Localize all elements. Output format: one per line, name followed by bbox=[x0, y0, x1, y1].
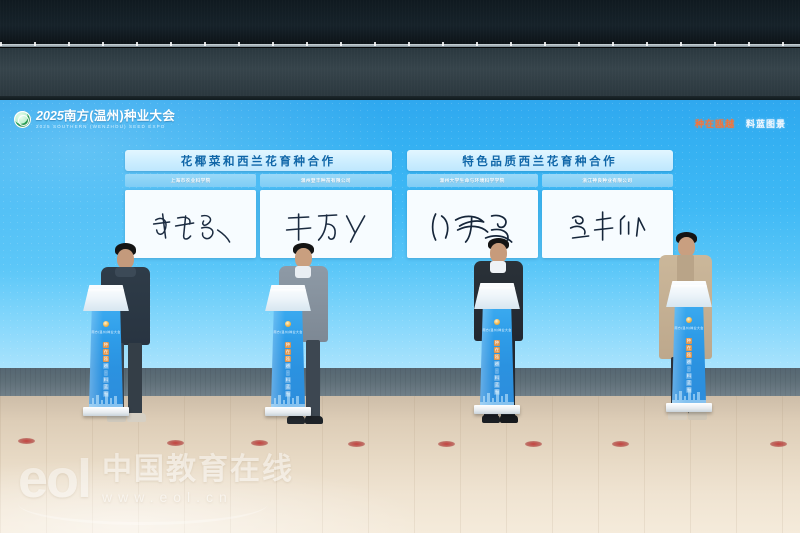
floor-marker bbox=[251, 440, 268, 446]
podium-skyline-graphic bbox=[672, 385, 706, 403]
podium-skyline-graphic bbox=[271, 389, 305, 407]
podium-char: 种 bbox=[686, 338, 692, 344]
party-label: 上海市农业科学院 bbox=[125, 174, 256, 187]
podium-header-text: 南方(温州)种业大会 bbox=[274, 330, 303, 334]
panel-right-parties: 温州大学生命与环境科学学院 浙江神良种业有限公司 bbox=[407, 174, 674, 187]
podium-panel: 南方(温州)种业大会 种 在 瓯 越 · 料 蓝 图 bbox=[271, 311, 305, 407]
event-logo-name: 南方(温州)种业大会 bbox=[64, 109, 175, 123]
podium-char: 在 bbox=[494, 347, 500, 353]
podium-desktop bbox=[262, 285, 314, 311]
shirt-collar bbox=[295, 266, 311, 278]
podium-char: · bbox=[286, 370, 289, 376]
podium-emblem-icon bbox=[285, 321, 291, 327]
podium-char: 越 bbox=[285, 363, 291, 369]
podium-2: 南方(温州)种业大会 种 在 瓯 越 · 料 蓝 图 bbox=[262, 285, 314, 416]
podium-char: 料 bbox=[285, 377, 291, 383]
podium-char: 料 bbox=[103, 377, 109, 383]
shoe-left bbox=[668, 411, 687, 420]
podium-desktop bbox=[663, 281, 715, 307]
head bbox=[678, 237, 695, 257]
floor-reflection bbox=[0, 456, 440, 533]
signing-panels: 花椰菜和西兰花育种合作 上海市农业科学院 温州登丰种苗有限公司 bbox=[125, 150, 673, 258]
podium-panel: 南方(温州)种业大会 种 在 瓯 越 · 料 蓝 图 bbox=[672, 307, 706, 403]
panel-left-title: 花椰菜和西兰花育种合作 bbox=[181, 153, 336, 169]
podium-char: 在 bbox=[686, 345, 692, 351]
podium-char: 在 bbox=[285, 349, 291, 355]
podium-header-text: 南方(温州)种业大会 bbox=[675, 326, 704, 330]
podium-char: · bbox=[495, 368, 498, 374]
party-label: 温州登丰种苗有限公司 bbox=[260, 174, 391, 187]
podium-header-text: 南方(温州)种业大会 bbox=[92, 330, 121, 334]
party-label: 浙江神良种业有限公司 bbox=[542, 174, 673, 187]
panel-left-party-1: 上海市农业科学院 bbox=[171, 178, 211, 184]
event-slogan: 种在瓯越 料蓝图景 bbox=[695, 117, 786, 130]
podium-char: 种 bbox=[285, 342, 291, 348]
podium-base bbox=[474, 405, 520, 414]
panel-right-title-bar: 特色品质西兰花育种合作 bbox=[407, 150, 674, 171]
podium-char: 瓯 bbox=[686, 352, 692, 358]
podium-skyline-graphic bbox=[480, 387, 514, 405]
podium-panel: 南方(温州)种业大会 种 在 瓯 越 · 料 蓝 图 bbox=[480, 309, 514, 405]
podium-desktop bbox=[471, 283, 523, 309]
floor-marker bbox=[348, 441, 365, 447]
podium-char: 在 bbox=[103, 349, 109, 355]
panel-left-party-2: 温州登丰种苗有限公司 bbox=[301, 178, 351, 184]
shoe-left bbox=[287, 416, 305, 424]
podium-char: 种 bbox=[494, 340, 500, 346]
podium-base bbox=[666, 403, 712, 412]
podium-header-text: 南方(温州)种业大会 bbox=[483, 328, 512, 332]
floor-marker bbox=[167, 440, 184, 446]
panel-right-title: 特色品质西兰花育种合作 bbox=[462, 153, 617, 169]
podium-panel: 南方(温州)种业大会 种 在 瓯 越 · 料 蓝 图 bbox=[89, 311, 123, 407]
floor-marker bbox=[612, 441, 629, 447]
signing-panel-left: 花椰菜和西兰花育种合作 上海市农业科学院 温州登丰种苗有限公司 bbox=[125, 150, 392, 258]
podium-char: 种 bbox=[103, 342, 109, 348]
handwritten-signature bbox=[542, 190, 673, 258]
slogan-right-text: 料蓝图景 bbox=[746, 117, 786, 130]
podium-char: 瓯 bbox=[103, 356, 109, 362]
podium-skyline-graphic bbox=[89, 389, 123, 407]
podium-3: 南方(温州)种业大会 种 在 瓯 越 · 料 蓝 图 bbox=[471, 283, 523, 414]
shoe-right bbox=[688, 411, 707, 420]
floor-marker bbox=[770, 441, 787, 447]
signature-box bbox=[542, 190, 673, 258]
photo-scene: 2025南方(温州)种业大会 2025 SOUTHERN (WENZHOU) S… bbox=[0, 0, 800, 533]
podium-desktop bbox=[80, 285, 132, 311]
event-logo: 2025南方(温州)种业大会 2025 SOUTHERN (WENZHOU) S… bbox=[14, 110, 175, 130]
podium-char: 料 bbox=[686, 373, 692, 379]
panel-right-party-1: 温州大学生命与环境科学学院 bbox=[440, 178, 505, 184]
podium-char: 越 bbox=[103, 363, 109, 369]
signing-panel-right: 特色品质西兰花育种合作 温州大学生命与环境科学学院 浙江神良种业有限公司 bbox=[407, 150, 674, 258]
ceiling-acoustic-panel bbox=[0, 48, 800, 100]
podium-char: · bbox=[687, 366, 690, 372]
floor-marker bbox=[438, 441, 455, 447]
podium-emblem-icon bbox=[103, 321, 109, 327]
ceiling-light-dots bbox=[0, 42, 800, 46]
event-logo-subtitle: 2025 SOUTHERN (WENZHOU) SEED EXPO bbox=[36, 125, 175, 130]
podium-char: 料 bbox=[494, 375, 500, 381]
head bbox=[295, 248, 312, 268]
podium-1: 南方(温州)种业大会 种 在 瓯 越 · 料 蓝 图 bbox=[80, 285, 132, 416]
podium-emblem-icon bbox=[686, 317, 692, 323]
podium-char: 瓯 bbox=[494, 354, 500, 360]
seed-emblem-icon bbox=[14, 111, 31, 128]
panel-right-signature-boxes bbox=[407, 190, 674, 258]
head bbox=[490, 243, 507, 263]
podium-char: 瓯 bbox=[285, 356, 291, 362]
floor-marker bbox=[18, 438, 35, 444]
ceiling bbox=[0, 0, 800, 46]
podium-char: 越 bbox=[686, 359, 692, 365]
shoe-right bbox=[500, 415, 518, 423]
panel-left-title-bar: 花椰菜和西兰花育种合作 bbox=[125, 150, 392, 171]
head bbox=[117, 249, 134, 269]
shirt-collar bbox=[490, 261, 506, 273]
podium-base bbox=[83, 407, 129, 416]
shoe-right bbox=[305, 416, 323, 424]
party-label: 温州大学生命与环境科学学院 bbox=[407, 174, 538, 187]
slogan-left-text: 种在瓯越 bbox=[695, 117, 735, 130]
podium-emblem-icon bbox=[494, 319, 500, 325]
jacket-collar bbox=[115, 267, 136, 277]
podium-4: 南方(温州)种业大会 种 在 瓯 越 · 料 蓝 图 bbox=[663, 281, 715, 412]
podium-base bbox=[265, 407, 311, 416]
panel-left-parties: 上海市农业科学院 温州登丰种苗有限公司 bbox=[125, 174, 392, 187]
event-logo-year: 2025 bbox=[36, 109, 64, 123]
panel-right-party-2: 浙江神良种业有限公司 bbox=[582, 178, 632, 184]
podium-char: · bbox=[104, 370, 107, 376]
event-logo-title: 2025南方(温州)种业大会 bbox=[36, 110, 175, 123]
shoe-left bbox=[482, 415, 500, 423]
podium-char: 越 bbox=[494, 361, 500, 367]
panel-left-signature-boxes bbox=[125, 190, 392, 258]
